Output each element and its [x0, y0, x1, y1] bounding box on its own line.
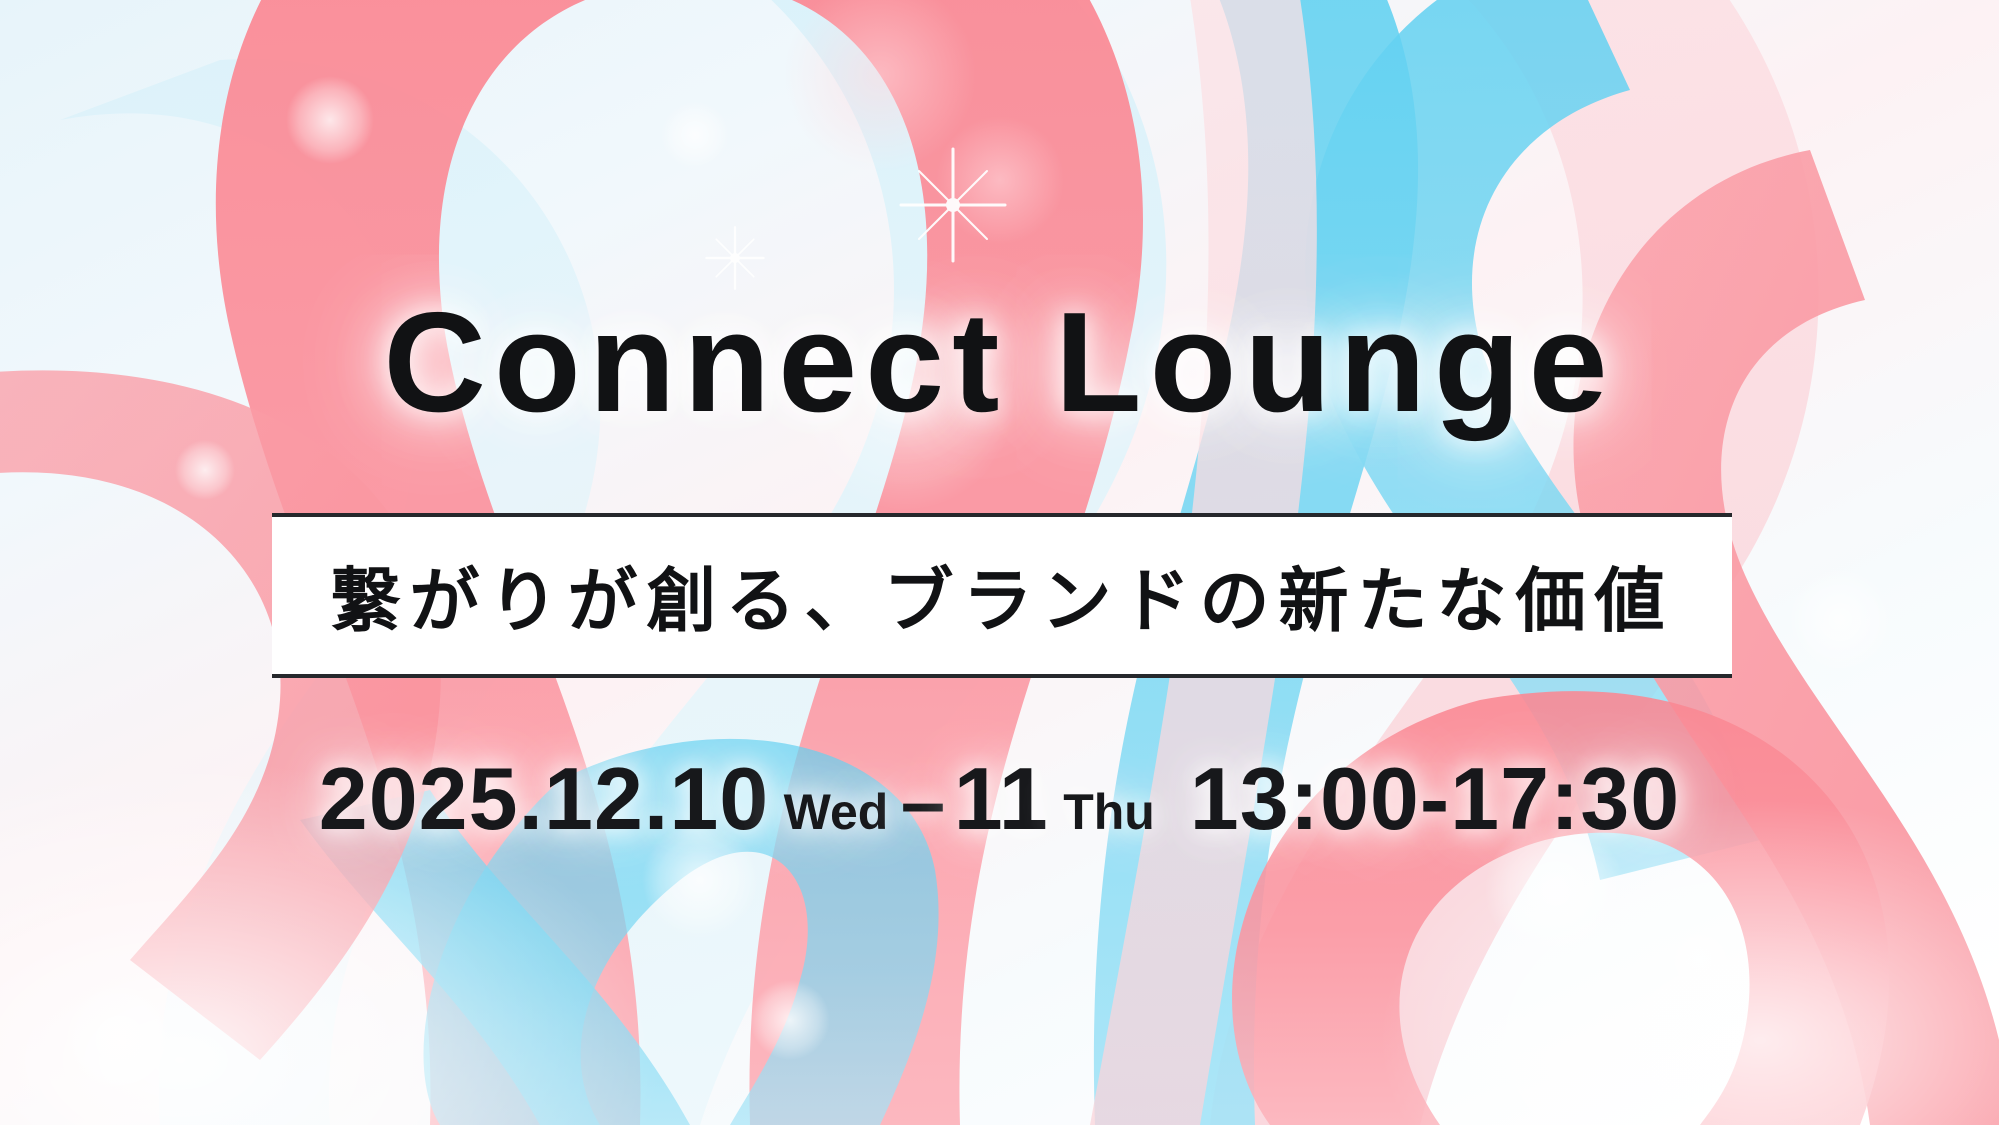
end-day-of-week: Thu — [1053, 784, 1159, 840]
end-date: 11 — [954, 749, 1049, 848]
event-datetime: 2025.12.10 Wed – 11 Thu 13:00-17:30 — [0, 748, 1999, 850]
start-date: 2025.12.10 — [319, 749, 769, 848]
event-banner: Connect Lounge 繋がりが創る、ブランドの新たな価値 2025.12… — [0, 0, 1999, 1125]
title-row: Connect Lounge — [0, 292, 1999, 434]
banner-content: Connect Lounge 繋がりが創る、ブランドの新たな価値 2025.12… — [0, 0, 1999, 1125]
event-time: 13:00-17:30 — [1190, 749, 1680, 848]
date-range-dash: – — [897, 757, 950, 846]
start-day-of-week: Wed — [774, 784, 893, 840]
subtitle-panel: 繋がりが創る、ブランドの新たな価値 — [272, 513, 1732, 678]
page-title: Connect Lounge — [383, 292, 1615, 434]
subtitle-text: 繋がりが創る、ブランドの新たな価値 — [331, 545, 1674, 646]
